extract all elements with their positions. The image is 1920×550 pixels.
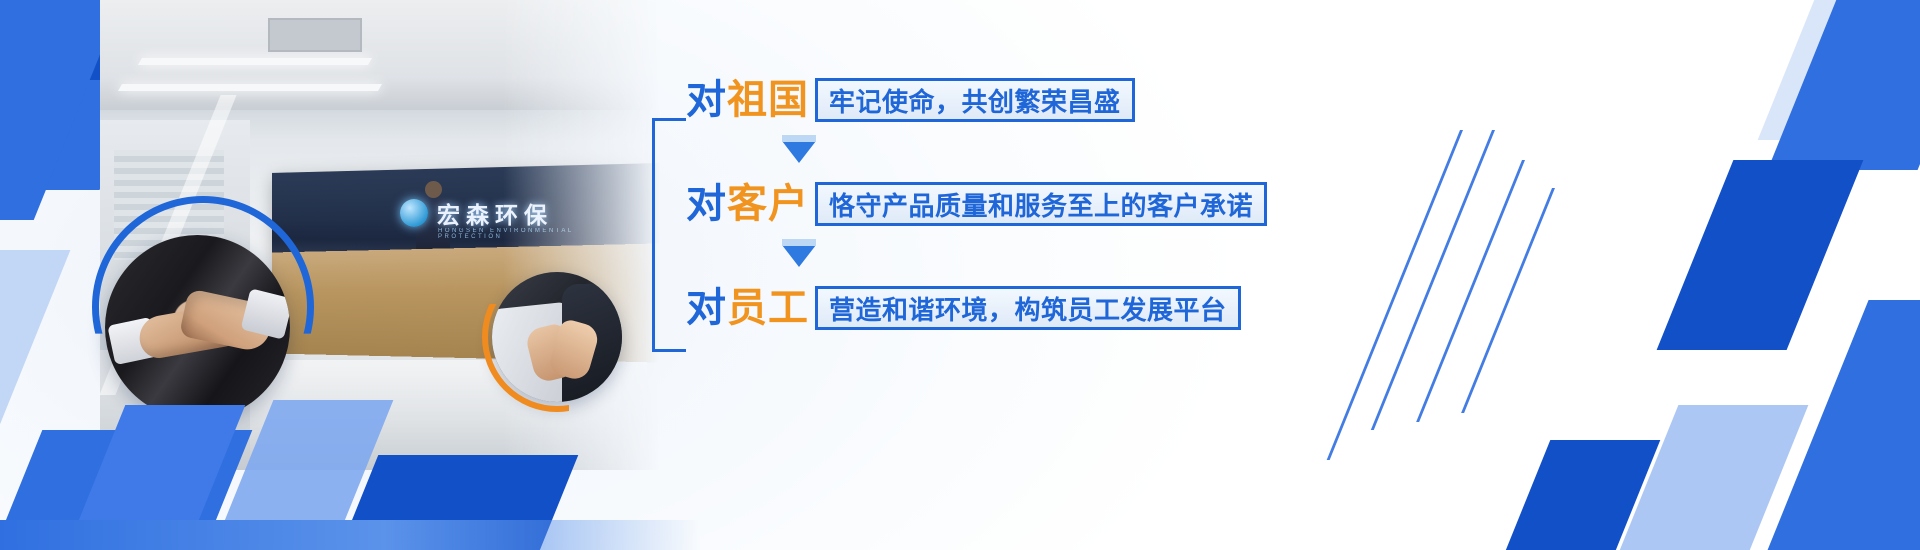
ceiling-light-strip [138, 58, 372, 65]
slogan-heading-employee: 对员工 [686, 288, 809, 328]
slogan-heading-customer: 对客户 [686, 184, 809, 224]
connector-2 [686, 232, 1352, 280]
slogan-prefix: 对 [686, 182, 727, 226]
slogan-keyword: 客户 [727, 182, 809, 226]
company-logo-text: 宏森环保 [437, 196, 553, 230]
decor-bottom-band [0, 520, 700, 550]
company-logo-subtext: HONGSEN ENVIRONMENTAL PROTECTION [438, 228, 608, 240]
down-arrow-icon [782, 141, 816, 163]
slogan-keyword: 祖国 [727, 78, 809, 122]
slogan-statement-country: 牢记使命，共创繁荣昌盛 [815, 78, 1135, 122]
ceiling-light-strip [118, 84, 382, 91]
lobby-ceiling [100, 0, 660, 110]
promotional-banner: 宏森环保 HONGSEN ENVIRONMENTAL PROTECTION [0, 0, 1920, 550]
slogan-prefix: 对 [686, 78, 727, 122]
slogan-keyword: 员工 [727, 286, 809, 330]
decor-diagonal-line [1461, 188, 1555, 413]
slogan-heading-country: 对祖国 [686, 80, 809, 120]
slogan-block: 对祖国 牢记使命，共创繁荣昌盛 对客户 恪守产品质量和服务至上的客户承诺 对员工 [652, 72, 1352, 392]
globe-logo-icon [400, 199, 428, 227]
slogan-statement-customer: 恪守产品质量和服务至上的客户承诺 [815, 182, 1267, 226]
slogan-prefix: 对 [686, 286, 727, 330]
slogan-statement-employee: 营造和谐环境，构筑员工发展平台 [815, 286, 1241, 330]
slogan-row-employee: 对员工 营造和谐环境，构筑员工发展平台 [686, 280, 1352, 336]
slogan-bracket [652, 118, 686, 352]
slogan-row-country: 对祖国 牢记使命，共创繁荣昌盛 [686, 72, 1352, 128]
slogan-row-customer: 对客户 恪守产品质量和服务至上的客户承诺 [686, 176, 1352, 232]
down-arrow-icon [782, 245, 816, 267]
decor-diagonal-lines [1340, 130, 1600, 440]
slogan-rows: 对祖国 牢记使命，共创繁荣昌盛 对客户 恪守产品质量和服务至上的客户承诺 对员工 [686, 72, 1352, 336]
connector-1 [686, 128, 1352, 176]
